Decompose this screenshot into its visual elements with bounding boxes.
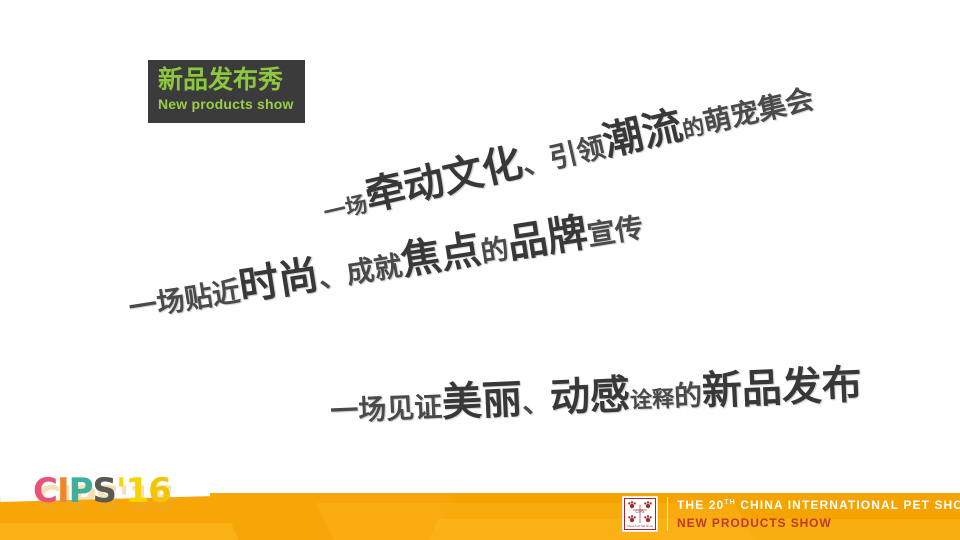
headline-segment: 潮流 — [599, 104, 687, 165]
headline-segment: 引领 — [546, 131, 608, 174]
headline-segment: 诠释 — [630, 386, 675, 413]
logo-letter-p: P — [69, 474, 93, 508]
lockup-text-block: THE 20TH CHINA INTERNATIONAL PET SHOW NE… — [677, 498, 960, 531]
footer-title-prefix: THE 20 — [677, 498, 724, 512]
headline-segment: 、 — [521, 386, 550, 418]
headline-segment: 美丽 — [441, 378, 523, 425]
headline-segment: 一场贴近 — [127, 276, 242, 324]
cips-emblem-icon: CIPS China Int'l Pet Show — [622, 496, 658, 532]
svg-text:China Int'l Pet Show: China Int'l Pet Show — [627, 524, 654, 528]
badge-title-cn: 新品发布秀 — [158, 65, 305, 95]
logo-digit-6: 6 — [148, 474, 171, 508]
headline-segment: 萌宠集会 — [700, 83, 816, 138]
headline-segment: 牵动文化 — [361, 141, 527, 220]
headline-segment: 一场 — [321, 191, 370, 225]
logo-letter-c: C — [33, 474, 57, 508]
logo-letter-i: I — [57, 474, 69, 508]
badge-title-en: New products show — [158, 95, 305, 114]
headline-segment: 时尚 — [236, 253, 322, 309]
footer-lockup: CIPS China Int'l Pet Show THE 20TH CHINA… — [622, 496, 960, 532]
headline-segment: 新品发布 — [701, 363, 863, 414]
lockup-divider — [667, 497, 668, 531]
footer-title-ordinal: TH — [724, 499, 736, 506]
headline-segment: 的 — [673, 380, 702, 412]
headline-line-3: 一场见证美丽、动感诠释的新品发布 — [329, 352, 863, 433]
logo-apostrophe: ' — [116, 474, 125, 508]
headline-segment: 宣传 — [585, 212, 645, 251]
logo-digit-1: 1 — [125, 474, 148, 508]
new-products-show-badge: 新品发布秀 New products show — [148, 60, 305, 123]
band-facet-d — [0, 523, 249, 540]
footer-title-line-2: NEW PRODUCTS SHOW — [677, 516, 960, 531]
cips-logo: CIPS'16 — [33, 474, 171, 508]
headline-segment: 一场见证 — [330, 391, 443, 427]
footer-title-suffix: CHINA INTERNATIONAL PET SHOW — [736, 498, 960, 512]
headline-segment: 品牌 — [505, 211, 591, 267]
headline-segment: 焦点 — [398, 228, 484, 284]
headline-segment: 动感 — [549, 373, 631, 420]
slide-canvas: 新品发布秀 New products show 一场牵动文化、引领潮流的萌宠集会… — [0, 0, 960, 540]
headline-segment: 成就 — [344, 250, 404, 289]
svg-text:CIPS: CIPS — [636, 509, 645, 514]
footer-title-line-1: THE 20TH CHINA INTERNATIONAL PET SHOW — [677, 498, 960, 513]
logo-letter-s: S — [93, 474, 117, 508]
